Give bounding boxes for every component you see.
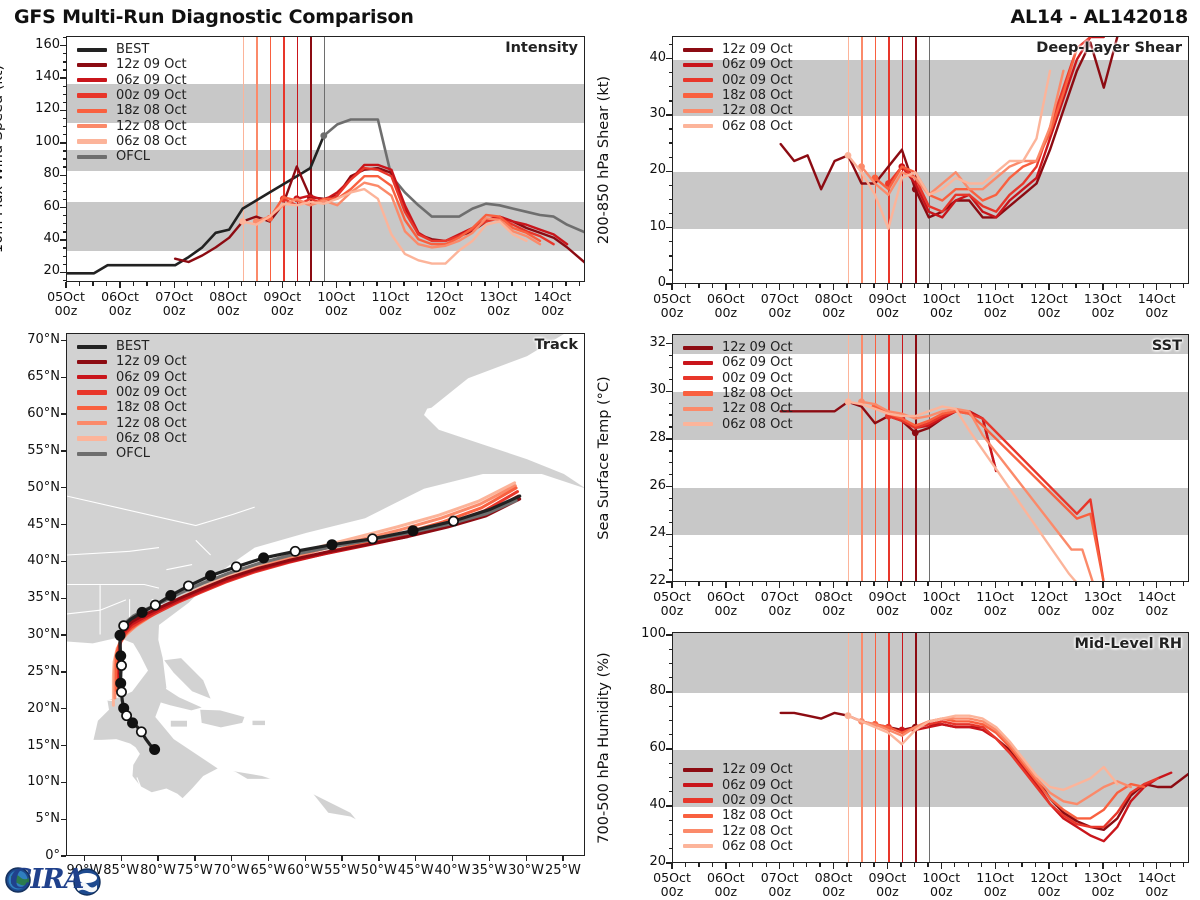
x-tick-minor	[981, 284, 982, 288]
map-area[interactable]: TrackBEST12z 09 Oct06z 09 Oct00z 09 Oct1…	[66, 333, 585, 856]
legend-swatch	[77, 375, 107, 379]
legend-swatch	[77, 436, 107, 440]
y-tick-mark	[666, 805, 672, 806]
legend-label: 06z 09 Oct	[116, 371, 187, 384]
legend-swatch	[683, 346, 713, 350]
x-tick-minor	[1116, 284, 1117, 288]
series-line-00z-09-oct	[888, 721, 1157, 827]
legend-swatch	[683, 48, 713, 52]
track-marker-00z	[137, 607, 147, 617]
y-tick-mark	[666, 634, 672, 635]
x-tick-mark	[941, 284, 942, 290]
y-tick-label: 30	[618, 107, 666, 120]
y-tick-minor	[669, 269, 673, 270]
x-tick-minor	[376, 282, 377, 286]
lon-tick-mark	[378, 856, 379, 861]
y-tick-minor	[669, 677, 673, 678]
legend-swatch	[683, 814, 713, 818]
panel-rh: Mid-Level RH12z 09 Oct06z 09 Oct00z 09 O…	[672, 632, 1189, 863]
x-tick-minor	[846, 863, 847, 867]
x-tick-minor	[873, 863, 874, 867]
panel-title-track: Track	[535, 337, 578, 353]
x-tick-minor	[133, 282, 134, 286]
legend-label: 06z 09 Oct	[116, 74, 187, 87]
y-tick-label: 10	[618, 220, 666, 233]
x-tick-minor	[739, 863, 740, 867]
lat-tick-mark	[61, 708, 66, 709]
x-tick-minor	[538, 282, 539, 286]
x-tick-minor	[579, 282, 580, 286]
series-line-06z-09-oct	[902, 37, 1104, 217]
y-axis-label-sst: Sea Surface Temp (°C)	[596, 376, 612, 539]
lat-tick-label: 25°N	[4, 664, 60, 679]
lat-tick-mark	[61, 671, 66, 672]
y-tick-minor	[63, 256, 67, 257]
legend-label: 06z 09 Oct	[722, 58, 793, 71]
legend-swatch	[77, 139, 107, 143]
x-tick-minor	[860, 284, 861, 288]
x-tick-minor	[511, 282, 512, 286]
x-tick-mark	[174, 282, 175, 288]
lon-tick-mark	[84, 856, 85, 861]
x-tick-label: 14Oct00z	[518, 290, 588, 318]
x-tick-minor	[1008, 582, 1009, 586]
plot-area-sst: SST12z 09 Oct06z 09 Oct00z 09 Oct18z 08 …	[672, 334, 1189, 582]
legend-label: 12z 09 Oct	[722, 43, 793, 56]
y-tick-minor	[669, 255, 673, 256]
x-tick-minor	[766, 582, 767, 586]
y-tick-mark	[666, 58, 672, 59]
y-tick-minor	[63, 158, 67, 159]
x-tick-minor	[1035, 582, 1036, 586]
init-marker	[239, 218, 246, 225]
y-tick-mark	[666, 438, 672, 439]
legend-item-00z-09-oct[interactable]: 00z 09 Oct	[683, 73, 793, 88]
panel-title-shear: Deep-Layer Shear	[1036, 40, 1182, 56]
legend-swatch	[77, 124, 107, 128]
track-marker-12z	[291, 547, 300, 556]
y-tick-label: 60	[618, 741, 666, 754]
y-tick-minor	[669, 185, 673, 186]
x-tick-minor	[685, 863, 686, 867]
y-tick-minor	[63, 37, 67, 38]
legend-swatch	[77, 93, 107, 97]
x-tick-minor	[954, 284, 955, 288]
y-tick-minor	[63, 86, 67, 87]
y-tick-minor	[669, 777, 673, 778]
legend-item-06z-08-oct[interactable]: 06z 08 Oct	[683, 416, 793, 431]
legend-label: 18z 08 Oct	[116, 401, 187, 414]
legend-item-06z-09-oct[interactable]: 06z 09 Oct	[77, 73, 187, 88]
x-tick-minor	[417, 282, 418, 286]
x-tick-mark	[1102, 284, 1103, 290]
legend-item-00z-09-oct[interactable]: 00z 09 Oct	[77, 88, 187, 103]
x-tick-minor	[1008, 863, 1009, 867]
x-tick-minor	[900, 284, 901, 288]
x-tick-minor	[819, 284, 820, 288]
x-tick-minor	[860, 863, 861, 867]
legend-item-12z-09-oct[interactable]: 12z 09 Oct	[683, 762, 793, 777]
y-tick-label: 0	[618, 276, 666, 289]
legend-swatch	[683, 109, 713, 113]
x-tick-mark	[1156, 863, 1157, 869]
y-tick-mark	[666, 391, 672, 392]
x-tick-mark	[887, 582, 888, 588]
x-tick-minor	[565, 282, 566, 286]
legend-label: 18z 08 Oct	[116, 104, 187, 117]
x-tick-minor	[1021, 863, 1022, 867]
y-tick-label: 32	[618, 336, 666, 349]
y-tick-minor	[63, 134, 67, 135]
x-tick-mark	[671, 582, 672, 588]
y-tick-label: 100	[618, 627, 666, 640]
lon-tick-mark	[305, 856, 306, 861]
lat-tick-mark	[61, 745, 66, 746]
x-tick-minor	[739, 284, 740, 288]
y-tick-minor	[63, 264, 67, 265]
legend-item-00z-09-oct[interactable]: 00z 09 Oct	[77, 385, 187, 400]
y-tick-minor	[669, 834, 673, 835]
x-tick-mark	[833, 284, 834, 290]
legend-swatch	[683, 391, 713, 395]
y-tick-minor	[63, 61, 67, 62]
x-tick-mark	[498, 282, 499, 288]
x-tick-minor	[146, 282, 147, 286]
x-tick-mark	[779, 863, 780, 869]
track-marker-12z	[122, 711, 131, 720]
lat-tick-mark	[61, 561, 66, 562]
x-tick-minor	[1062, 863, 1063, 867]
x-tick-hour: 00z	[518, 304, 588, 318]
lon-tick-mark	[415, 856, 416, 861]
y-tick-minor	[669, 558, 673, 559]
x-tick-minor	[1129, 863, 1130, 867]
legend-label: 12z 08 Oct	[722, 104, 793, 117]
cira-logo-text: CIRA	[10, 866, 84, 893]
legend-item-12z-09-oct[interactable]: 12z 09 Oct	[683, 340, 793, 355]
x-tick-minor	[1129, 582, 1130, 586]
lat-tick-label: 10°N	[4, 774, 60, 789]
x-tick-minor	[968, 863, 969, 867]
x-tick-minor	[806, 284, 807, 288]
x-tick-minor	[1021, 284, 1022, 288]
legend-swatch	[683, 93, 713, 97]
y-tick-minor	[669, 86, 673, 87]
x-tick-mark	[1102, 863, 1103, 869]
lat-tick-mark	[61, 598, 66, 599]
legend-label: 06z 08 Oct	[116, 135, 187, 148]
legend-swatch	[683, 798, 713, 802]
x-tick-minor	[806, 582, 807, 586]
y-tick-minor	[669, 649, 673, 650]
x-tick-mark	[995, 863, 996, 869]
legend-label: 00z 09 Oct	[116, 386, 187, 399]
y-tick-mark	[666, 114, 672, 115]
legend-item-12z-09-oct[interactable]: 12z 09 Oct	[77, 57, 187, 72]
legend-label: 12z 08 Oct	[722, 402, 793, 415]
panel-track: TrackBEST12z 09 Oct06z 09 Oct00z 09 Oct1…	[66, 333, 585, 856]
lat-tick-label: 20°N	[4, 701, 60, 716]
lon-tick-mark	[231, 856, 232, 861]
x-tick-minor	[349, 282, 350, 286]
figure-title-left: GFS Multi-Run Diagnostic Comparison	[14, 6, 414, 28]
track-marker-12z	[368, 534, 377, 543]
x-tick-hour: 00z	[1122, 604, 1192, 618]
track-marker-00z	[150, 745, 160, 755]
legend-item-18z-08-oct[interactable]: 18z 08 Oct	[77, 400, 187, 415]
lat-tick-mark	[61, 413, 66, 414]
y-tick-minor	[63, 118, 67, 119]
y-tick-mark	[60, 142, 66, 143]
x-tick-minor	[106, 282, 107, 286]
legend-label: 06z 09 Oct	[722, 356, 793, 369]
legend-swatch	[683, 361, 713, 365]
x-tick-minor	[255, 282, 256, 286]
y-tick-minor	[669, 213, 673, 214]
legend-item-00z-09-oct[interactable]: 00z 09 Oct	[683, 371, 793, 386]
lon-tick-label: 25°W	[541, 863, 585, 878]
y-tick-minor	[669, 663, 673, 664]
legend-item-00z-09-oct[interactable]: 00z 09 Oct	[683, 793, 793, 808]
y-tick-minor	[669, 199, 673, 200]
x-tick-mark	[65, 282, 66, 288]
x-tick-minor	[1116, 863, 1117, 867]
legend-label: 06z 08 Oct	[722, 840, 793, 853]
y-tick-minor	[63, 199, 67, 200]
x-tick-mark	[887, 284, 888, 290]
legend-swatch	[77, 345, 107, 349]
y-tick-minor	[669, 706, 673, 707]
lat-tick-label: 40°N	[4, 553, 60, 568]
lon-tick-mark	[526, 856, 527, 861]
legend-label: 06z 08 Oct	[116, 432, 187, 445]
y-tick-minor	[669, 414, 673, 415]
x-tick-mark	[228, 282, 229, 288]
y-tick-mark	[666, 748, 672, 749]
legend-item-12z-08-oct[interactable]: 12z 08 Oct	[683, 103, 793, 118]
x-tick-minor	[1116, 582, 1117, 586]
legend-item-06z-08-oct[interactable]: 06z 08 Oct	[77, 431, 187, 446]
lat-tick-label: 15°N	[4, 738, 60, 753]
x-tick-minor	[363, 282, 364, 286]
x-tick-mark	[725, 863, 726, 869]
x-tick-minor	[525, 282, 526, 286]
lat-tick-mark	[61, 524, 66, 525]
x-tick-minor	[793, 582, 794, 586]
y-tick-minor	[669, 546, 673, 547]
y-tick-mark	[60, 239, 66, 240]
legend-swatch	[683, 768, 713, 772]
x-tick-minor	[698, 582, 699, 586]
y-tick-label: 140	[12, 70, 60, 83]
x-tick-minor	[1035, 863, 1036, 867]
legend-item-06z-08-oct[interactable]: 06z 08 Oct	[683, 118, 793, 133]
panel-title-rh: Mid-Level RH	[1075, 636, 1182, 652]
legend-swatch	[77, 360, 107, 364]
y-tick-mark	[666, 534, 672, 535]
y-tick-minor	[669, 569, 673, 570]
x-tick-minor	[927, 863, 928, 867]
x-tick-minor	[846, 582, 847, 586]
init-marker	[845, 712, 852, 719]
y-tick-minor	[63, 53, 67, 54]
x-tick-mark	[941, 863, 942, 869]
figure-root: GFS Multi-Run Diagnostic Comparison AL14…	[0, 0, 1200, 900]
x-tick-mark	[779, 582, 780, 588]
x-tick-mark	[995, 582, 996, 588]
legend-label: BEST	[116, 43, 149, 56]
y-tick-minor	[63, 150, 67, 151]
x-tick-minor	[752, 284, 753, 288]
x-tick-minor	[981, 863, 982, 867]
x-tick-minor	[1021, 582, 1022, 586]
legend-item-06z-08-oct[interactable]: 06z 08 Oct	[683, 839, 793, 854]
x-tick-minor	[698, 284, 699, 288]
x-tick-minor	[1062, 284, 1063, 288]
x-tick-minor	[471, 282, 472, 286]
y-tick-minor	[63, 231, 67, 232]
legend-item-18z-08-oct[interactable]: 18z 08 Oct	[683, 88, 793, 103]
x-tick-label: 14Oct00z	[1122, 590, 1192, 618]
x-tick-mark	[119, 282, 120, 288]
track-marker-12z	[184, 581, 193, 590]
legend-label: 00z 09 Oct	[722, 74, 793, 87]
legend-item-12z-09-oct[interactable]: 12z 09 Oct	[683, 42, 793, 57]
y-tick-mark	[60, 207, 66, 208]
legend-item-18z-08-oct[interactable]: 18z 08 Oct	[77, 103, 187, 118]
legend-item-18z-08-oct[interactable]: 18z 08 Oct	[683, 808, 793, 823]
y-tick-minor	[669, 241, 673, 242]
legend-item-12z-09-oct[interactable]: 12z 09 Oct	[77, 354, 187, 369]
legend-item-18z-08-oct[interactable]: 18z 08 Oct	[683, 386, 793, 401]
x-tick-mark	[390, 282, 391, 288]
y-tick-minor	[63, 215, 67, 216]
y-tick-minor	[63, 223, 67, 224]
lat-tick-label: 50°N	[4, 480, 60, 495]
legend-label: 00z 09 Oct	[722, 794, 793, 807]
best-track	[120, 496, 520, 749]
lat-tick-label: 65°N	[4, 369, 60, 384]
legend-item-12z-08-oct[interactable]: 12z 08 Oct	[77, 118, 187, 133]
legend-item-06z-09-oct[interactable]: 06z 09 Oct	[683, 57, 793, 72]
y-tick-mark	[60, 45, 66, 46]
y-tick-minor	[63, 102, 67, 103]
lon-tick-mark	[194, 856, 195, 861]
x-tick-minor	[900, 582, 901, 586]
legend-sst: 12z 09 Oct06z 09 Oct00z 09 Oct18z 08 Oct…	[683, 340, 793, 432]
x-tick-label: 14Oct00z	[1122, 292, 1192, 320]
y-tick-label: 20	[618, 855, 666, 868]
legend-item-06z-08-oct[interactable]: 06z 08 Oct	[77, 134, 187, 149]
legend-item-ofcl[interactable]: OFCL	[77, 149, 187, 164]
lat-tick-label: 55°N	[4, 443, 60, 458]
y-tick-minor	[669, 367, 673, 368]
x-tick-mark	[1048, 863, 1049, 869]
legend-swatch	[77, 48, 107, 52]
x-tick-mark	[444, 282, 445, 288]
track-marker-12z	[117, 661, 126, 670]
legend-item-ofcl[interactable]: OFCL	[77, 446, 187, 461]
x-tick-date: 14Oct	[1122, 292, 1192, 306]
y-tick-label: 40	[618, 51, 666, 64]
x-tick-minor	[685, 284, 686, 288]
lon-tick-mark	[489, 856, 490, 861]
forecast-track-12z-09-oct	[120, 499, 520, 674]
figure-title-right: AL14 - AL142018	[1010, 6, 1188, 28]
legend-item-12z-08-oct[interactable]: 12z 08 Oct	[683, 401, 793, 416]
y-tick-minor	[669, 100, 673, 101]
init-marker	[320, 132, 327, 139]
x-tick-mark	[336, 282, 337, 288]
legend-swatch	[77, 421, 107, 425]
legend-label: 18z 08 Oct	[722, 387, 793, 400]
track-marker-00z	[206, 571, 216, 581]
legend-item-12z-08-oct[interactable]: 12z 08 Oct	[77, 415, 187, 430]
x-tick-mark	[671, 863, 672, 869]
lat-tick-mark	[61, 450, 66, 451]
lon-tick-mark	[157, 856, 158, 861]
legend-swatch	[683, 124, 713, 128]
legend-item-06z-09-oct[interactable]: 06z 09 Oct	[683, 778, 793, 793]
y-tick-label: 20	[618, 163, 666, 176]
legend-item-12z-08-oct[interactable]: 12z 08 Oct	[683, 823, 793, 838]
x-tick-hour: 00z	[1122, 306, 1192, 320]
x-tick-minor	[1170, 863, 1171, 867]
x-tick-minor	[873, 582, 874, 586]
y-tick-minor	[669, 142, 673, 143]
series-line-12z-08-oct	[862, 402, 1094, 582]
y-axis-label-shear: 200-850 hPa Shear (kt)	[596, 76, 612, 244]
y-tick-label: 30	[618, 383, 666, 396]
legend-label: 06z 08 Oct	[722, 120, 793, 133]
x-tick-hour: 00z	[1122, 885, 1192, 899]
y-tick-label: 20	[12, 264, 60, 277]
legend-item-best[interactable]: BEST	[77, 339, 187, 354]
track-marker-12z	[119, 621, 128, 630]
lon-tick-mark	[452, 856, 453, 861]
legend-item-06z-09-oct[interactable]: 06z 09 Oct	[77, 370, 187, 385]
x-tick-mark	[995, 284, 996, 290]
x-tick-minor	[268, 282, 269, 286]
track-marker-12z	[151, 601, 160, 610]
lat-tick-label: 5°N	[4, 811, 60, 826]
track-marker-00z	[259, 553, 269, 563]
x-tick-minor	[1075, 863, 1076, 867]
x-tick-minor	[295, 282, 296, 286]
y-tick-minor	[669, 720, 673, 721]
x-tick-minor	[1183, 284, 1184, 288]
x-tick-minor	[1062, 582, 1063, 586]
legend-item-best[interactable]: BEST	[77, 42, 187, 57]
y-tick-label: 80	[618, 684, 666, 697]
lat-tick-mark	[61, 487, 66, 488]
track-marker-12z	[137, 727, 146, 736]
lon-tick-mark	[341, 856, 342, 861]
x-tick-mark	[1048, 582, 1049, 588]
x-tick-minor	[968, 284, 969, 288]
y-axis-label-intensity: 10m Max Wind Speed (kt)	[0, 65, 6, 253]
x-tick-minor	[322, 282, 323, 286]
x-tick-minor	[1075, 582, 1076, 586]
x-tick-minor	[79, 282, 80, 286]
x-tick-minor	[201, 282, 202, 286]
legend-swatch	[683, 78, 713, 82]
legend-item-06z-09-oct[interactable]: 06z 09 Oct	[683, 355, 793, 370]
y-tick-minor	[63, 126, 67, 127]
legend-label: 06z 09 Oct	[722, 779, 793, 792]
x-tick-minor	[1170, 284, 1171, 288]
legend-swatch	[683, 63, 713, 67]
